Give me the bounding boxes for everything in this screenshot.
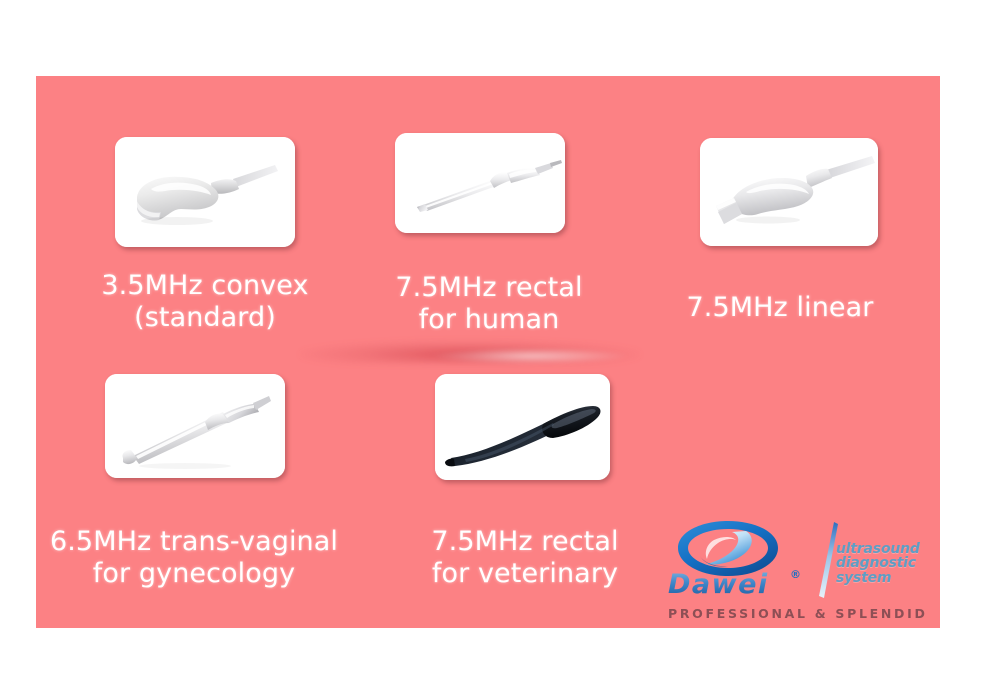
probe-card-rectal-veterinary[interactable] [435, 374, 610, 480]
brand-slogan: PROFESSIONAL & SPLENDID [668, 606, 926, 621]
brand-tagline: ultrasound diagnostic system [836, 542, 932, 585]
probe-caption-rectal-veterinary: 7.5MHz rectal for veterinary [400, 526, 650, 589]
svg-text:Dawei: Dawei [668, 569, 769, 600]
convex-probe-photo [115, 137, 295, 247]
image-canvas: 3.5MHz convex (standard) [0, 0, 988, 680]
rectal-veterinary-probe-photo [435, 374, 610, 480]
probe-caption-trans-vaginal: 6.5MHz trans-vaginal for gynecology [24, 526, 364, 589]
rectal-human-probe-photo [395, 133, 565, 233]
probe-card-rectal-human[interactable] [395, 133, 565, 233]
probe-caption-rectal-human: 7.5MHz rectal for human [374, 272, 604, 335]
brand-logo: Dawei ® ultrasound diagnostic system PRO… [668, 518, 930, 630]
probe-caption-convex: 3.5MHz convex (standard) [64, 270, 346, 333]
probe-caption-linear: 7.5MHz linear [660, 292, 900, 324]
registered-trademark-symbol: ® [790, 568, 801, 581]
probe-card-convex[interactable] [115, 137, 295, 247]
linear-probe-photo [700, 138, 878, 246]
trans-vaginal-probe-photo [105, 374, 285, 478]
probe-card-linear[interactable] [700, 138, 878, 246]
probe-card-trans-vaginal[interactable] [105, 374, 285, 478]
